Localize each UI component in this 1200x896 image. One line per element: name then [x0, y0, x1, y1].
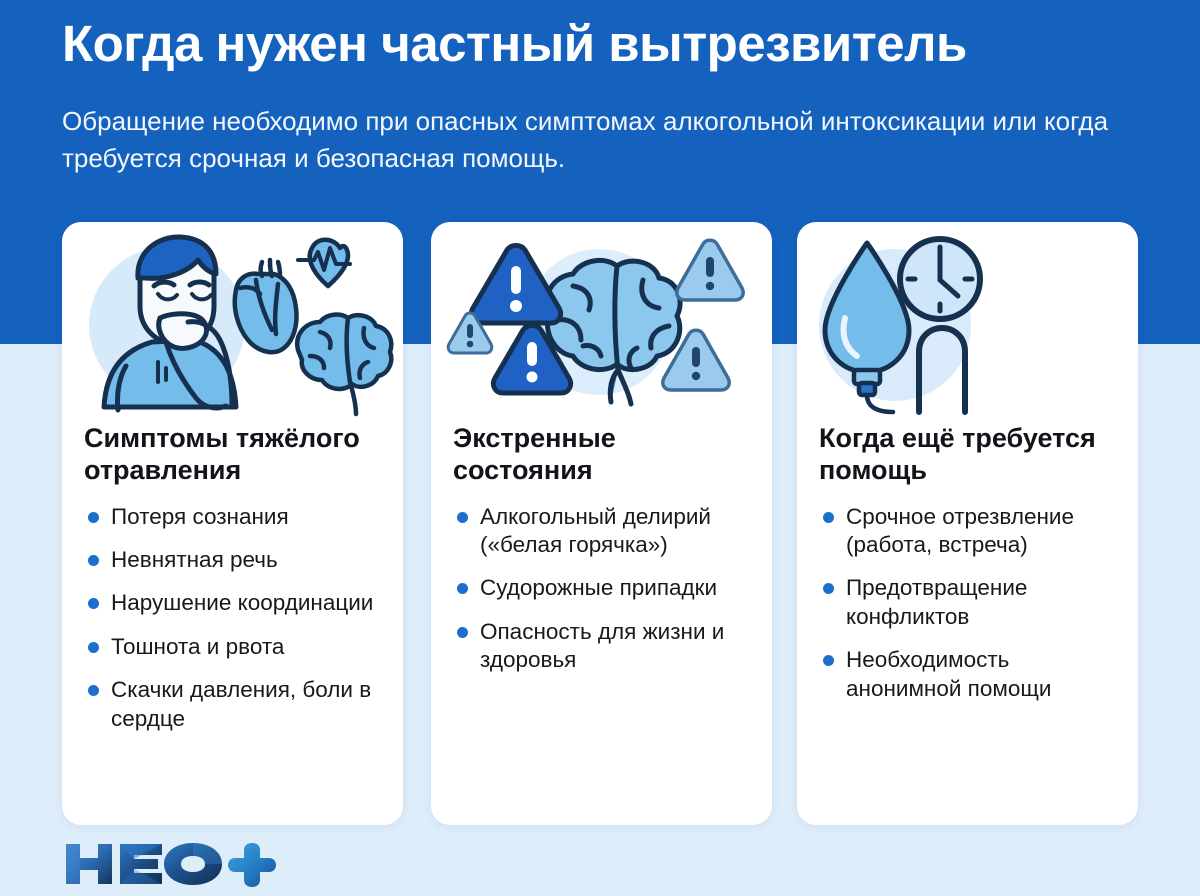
list-item: Тошнота и рвота [84, 633, 381, 661]
cards-container: Симптомы тяжёлого отравления Потеря созн… [0, 222, 1200, 826]
page-title: Когда нужен частный вытрезвитель [62, 15, 1162, 72]
card-title: Симптомы тяжёлого отравления [84, 422, 381, 487]
list-item: Срочное отрезвление (работа, встреча) [819, 503, 1116, 560]
list-item: Потеря сознания [84, 503, 381, 531]
neo-plus-logo [58, 838, 298, 890]
list-item: Нарушение координации [84, 589, 381, 617]
illustration-sick-person-heart-brain [62, 222, 403, 422]
list-item: Скачки давления, боли в сердце [84, 676, 381, 733]
card-title: Экстренные состояния [453, 422, 750, 487]
card-emergency-conditions: Экстренные состояния Алкогольный делирий… [431, 222, 772, 825]
warning-triangle-icon [677, 240, 743, 300]
list-item: Предотвращение конфликтов [819, 574, 1116, 631]
page-subtitle: Обращение необходимо при опасных симптом… [62, 103, 1122, 177]
list-item: Судорожные припадки [453, 574, 750, 602]
list-item: Необходимость анонимной помощи [819, 646, 1116, 703]
card-body: Экстренные состояния Алкогольный делирий… [431, 422, 772, 690]
bullet-list: Потеря сознания Невнятная речь Нарушение… [84, 503, 381, 733]
card-title: Когда ещё требуется помощь [819, 422, 1116, 487]
infographic-root: Когда нужен частный вытрезвитель Обращен… [0, 0, 1200, 896]
card-when-else-help-needed: Когда ещё требуется помощь Срочное отрез… [797, 222, 1138, 825]
list-item: Невнятная речь [84, 546, 381, 574]
bullet-list: Алкогольный делирий («белая горячка») Су… [453, 503, 750, 675]
bullet-list: Срочное отрезвление (работа, встреча) Пр… [819, 503, 1116, 703]
illustration-brain-with-warning-triangles [431, 222, 772, 422]
list-item: Алкогольный делирий («белая горячка») [453, 503, 750, 560]
list-item: Опасность для жизни и здоровья [453, 618, 750, 675]
card-body: Симптомы тяжёлого отравления Потеря созн… [62, 422, 403, 748]
warning-triangle-icon [471, 246, 560, 324]
illustration-iv-drip-and-clock [797, 222, 1138, 422]
clock-icon [900, 239, 980, 319]
card-body: Когда ещё требуется помощь Срочное отрез… [797, 422, 1138, 718]
card-severe-poisoning-symptoms: Симптомы тяжёлого отравления Потеря созн… [62, 222, 403, 825]
